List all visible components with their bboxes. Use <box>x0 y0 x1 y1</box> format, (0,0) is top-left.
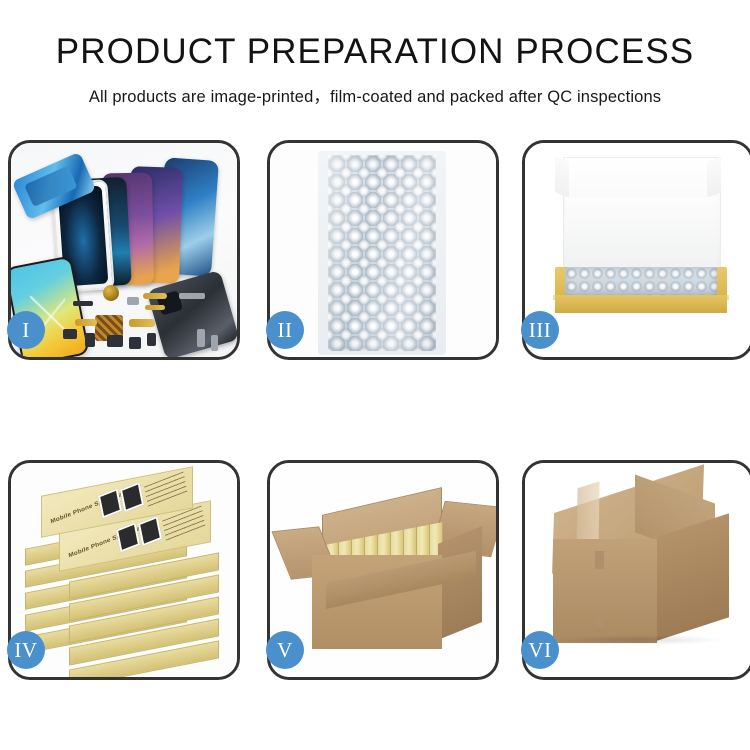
step-4-image: Mobile Phone Spare Parts Mobile Phone Sp… <box>11 463 237 677</box>
stacked-boxes-scene: Mobile Phone Spare Parts Mobile Phone Sp… <box>11 463 237 677</box>
spare-part <box>129 319 155 327</box>
carton-shadow <box>555 635 723 645</box>
page-title: PRODUCT PREPARATION PROCESS <box>0 0 750 69</box>
process-step-card-6: VI <box>522 460 750 680</box>
step-badge-2: II <box>266 311 304 349</box>
step-2-image <box>270 143 496 357</box>
spare-part <box>211 335 218 351</box>
process-step-card-3: III <box>522 140 750 360</box>
step-3-image <box>525 143 750 357</box>
spare-part <box>143 293 167 299</box>
process-step-card-5: V <box>267 460 499 680</box>
spare-part <box>197 329 205 347</box>
spare-part <box>179 293 205 299</box>
spare-part <box>147 333 156 346</box>
carton-seam <box>595 611 604 627</box>
process-step-grid: I II II <box>8 140 746 685</box>
white-foam-liner <box>565 197 717 267</box>
spare-part <box>129 337 141 349</box>
spare-part <box>127 297 139 305</box>
step-badge-5: V <box>266 631 304 669</box>
step-6-image <box>525 463 750 677</box>
step-badge-6: VI <box>521 631 559 669</box>
process-step-card-2: II <box>267 140 499 360</box>
box-artwork-thumb <box>138 516 162 546</box>
bubble-wrap-scene <box>270 143 496 357</box>
sealed-carton-scene <box>525 463 750 677</box>
lid-flap-right <box>707 156 721 197</box>
page-subtitle: All products are image-printed，film-coat… <box>0 69 750 107</box>
bubble-wrapped-contents <box>565 267 717 295</box>
step-1-image <box>11 143 237 357</box>
spare-part <box>75 319 97 326</box>
box-spec-lines <box>144 472 188 510</box>
carton-front-panel <box>553 539 657 643</box>
spare-part <box>63 329 77 339</box>
process-step-card-4: Mobile Phone Spare Parts Mobile Phone Sp… <box>8 460 240 680</box>
step-badge-4: IV <box>7 631 45 669</box>
step-5-image <box>270 463 496 677</box>
plastic-sheen <box>328 155 436 351</box>
phone-parts-scene <box>11 143 237 357</box>
step-badge-1: I <box>7 311 45 349</box>
box-artwork-thumb <box>116 522 140 552</box>
spare-part <box>73 301 93 306</box>
process-step-card-1: I <box>8 140 240 360</box>
spare-part <box>85 333 95 347</box>
header: PRODUCT PREPARATION PROCESS All products… <box>0 0 750 107</box>
box-artwork-thumb <box>98 488 122 518</box>
step-badge-3: III <box>521 311 559 349</box>
box-artwork-thumb <box>120 482 144 512</box>
lid-flap-left <box>555 156 569 197</box>
tray-front-panel <box>555 295 727 313</box>
open-carton-scene <box>270 463 496 677</box>
spare-part <box>145 305 165 310</box>
spare-part <box>107 335 123 347</box>
open-mailer-scene <box>525 143 750 357</box>
carton-seam <box>595 551 604 569</box>
spare-part <box>103 285 119 301</box>
